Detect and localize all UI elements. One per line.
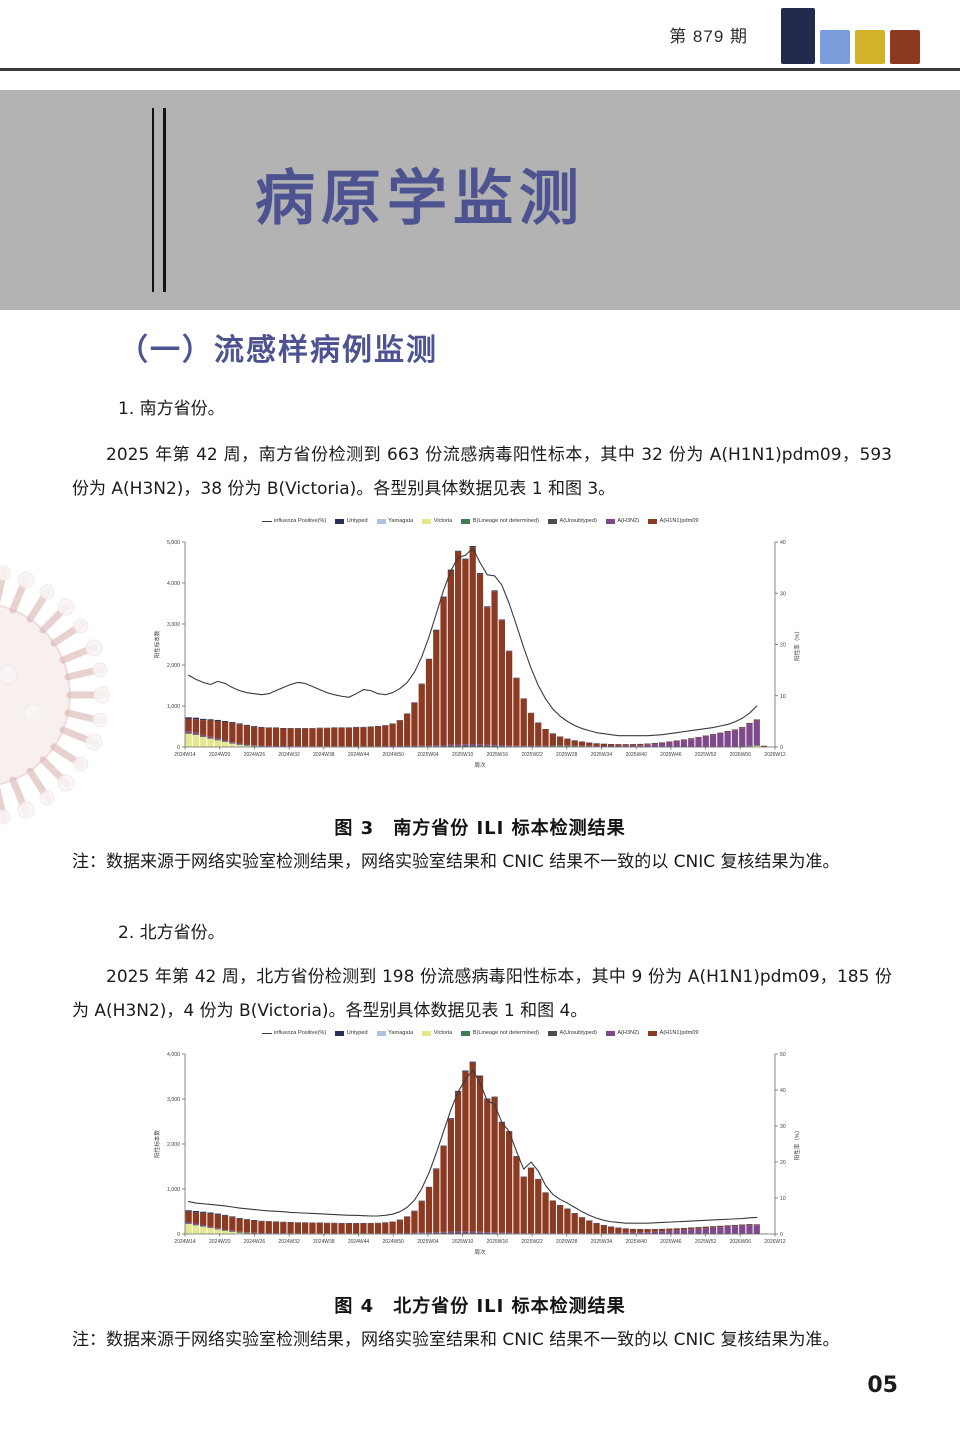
legend-label: Untyped <box>347 518 368 524</box>
legend-color-swatch <box>377 1031 386 1036</box>
south-list-label: 1. 南方省份。 <box>118 392 225 426</box>
legend-item: Victoria <box>422 518 452 524</box>
x-axis-tick-label: 2026W06 <box>730 1239 752 1245</box>
y-axis-tick-label: 3,000 <box>167 1097 180 1103</box>
y2-axis-tick-label: 40 <box>780 1088 786 1094</box>
legend-color-swatch <box>461 1031 470 1036</box>
y-axis-tick-label: 1,000 <box>167 704 180 710</box>
legend-item: A(H1N1)pdm09 <box>648 518 698 524</box>
legend-item: influenza Positive(%) <box>262 518 327 524</box>
legend-label: Victoria <box>434 518 453 524</box>
x-axis-tick-label: 2025W46 <box>660 752 682 758</box>
legend-color-swatch <box>335 1031 344 1036</box>
figure-3-plot-area: 01,0002,0003,0004,0005,0000102030402024W… <box>0 530 960 785</box>
x-axis-tick-label: 2024W20 <box>209 1239 231 1245</box>
figure-3-svg: 01,0002,0003,0004,0005,0000102030402024W… <box>130 530 830 785</box>
x-axis-tick-label: 2025W52 <box>695 1239 717 1245</box>
issue-label: 第 879 期 <box>669 22 748 47</box>
x-axis-tick-label: 2025W16 <box>487 752 509 758</box>
figure-3-caption: 图 3 南方省份 ILI 标本检测结果 <box>0 814 960 840</box>
x-axis-tick-label: 2026W12 <box>764 752 786 758</box>
legend-label: A(Unsubtyped) <box>560 518 597 524</box>
legend-item: A(H3N2) <box>606 1030 639 1036</box>
south-paragraph: 2025 年第 42 周，南方省份检测到 663 份流感病毒阳性标本，其中 32… <box>72 438 892 506</box>
legend-color-swatch <box>648 1031 657 1036</box>
y-axis-tick-label: 0 <box>177 1232 180 1238</box>
legend-color-swatch <box>606 519 615 524</box>
y2-axis-tick-label: 50 <box>780 1052 786 1058</box>
y-axis-tick-label: 1,000 <box>167 1187 180 1193</box>
legend-item: A(Unsubtyped) <box>548 518 597 524</box>
header-divider <box>0 68 960 71</box>
y-axis-tick-label: 3,000 <box>167 622 180 628</box>
y-axis-title: 阳性标本数 <box>153 630 161 658</box>
y2-axis-title: 阳性率（%） <box>793 628 801 661</box>
south-paragraph-text: 2025 年第 42 周，南方省份检测到 663 份流感病毒阳性标本，其中 32… <box>72 445 892 499</box>
y2-axis-tick-label: 10 <box>780 694 786 700</box>
legend-label: A(Unsubtyped) <box>560 1030 597 1036</box>
logo-bar-navy <box>781 8 815 64</box>
logo-bar-gold <box>855 30 885 64</box>
legend-line-marker <box>262 1033 272 1034</box>
banner-accent-line-right <box>163 108 166 292</box>
legend-label: A(H3N2) <box>617 1030 639 1036</box>
banner-accent-line-left <box>152 108 154 292</box>
x-axis-tick-label: 2024W50 <box>383 1239 405 1245</box>
x-axis-tick-label: 2025W04 <box>417 1239 439 1245</box>
legend-color-swatch <box>335 519 344 524</box>
x-axis-tick-label: 2024W38 <box>313 752 335 758</box>
page-number: 05 <box>867 1373 898 1398</box>
x-axis-tick-label: 2025W04 <box>417 752 439 758</box>
x-axis-tick-label: 2024W26 <box>244 1239 266 1245</box>
x-axis-tick-label: 2024W38 <box>313 1239 335 1245</box>
x-axis-tick-label: 2025W22 <box>521 752 543 758</box>
legend-label: Yamagata <box>388 518 413 524</box>
figure-3-legend: influenza Positive(%)UntypedYamagataVict… <box>0 518 960 524</box>
bar-series-A(H1N1)pdm09 <box>186 547 768 747</box>
chapter-banner: 病原学监测 <box>0 90 960 310</box>
x-axis-tick-label: 2026W06 <box>730 752 752 758</box>
legend-item: Victoria <box>422 1030 452 1036</box>
x-axis-tick-label: 2025W10 <box>452 1239 474 1245</box>
figure-4-note: 注：数据来源于网络实验室检测结果，网络实验室结果和 CNIC 结果不一致的以 C… <box>72 1326 896 1354</box>
figure-4-caption: 图 4 北方省份 ILI 标本检测结果 <box>0 1292 960 1318</box>
chapter-title: 病原学监测 <box>255 150 585 237</box>
y-axis-tick-label: 4,000 <box>167 1052 180 1058</box>
legend-item: A(H1N1)pdm09 <box>648 1030 698 1036</box>
legend-label: B(Lineage not determined) <box>473 518 539 524</box>
x-axis-tick-label: 2024W44 <box>348 752 370 758</box>
x-axis-tick-label: 2025W40 <box>625 1239 647 1245</box>
legend-item: A(Unsubtyped) <box>548 1030 597 1036</box>
x-axis-tick-label: 2025W34 <box>591 1239 613 1245</box>
x-axis-tick-label: 2024W14 <box>174 1239 196 1245</box>
x-axis-tick-label: 2025W34 <box>591 752 613 758</box>
legend-color-swatch <box>606 1031 615 1036</box>
y2-axis-tick-label: 30 <box>780 1124 786 1130</box>
legend-label: Victoria <box>434 1030 453 1036</box>
x-axis-tick-label: 2025W22 <box>521 1239 543 1245</box>
x-axis-tick-label: 2025W10 <box>452 752 474 758</box>
y2-axis-tick-label: 30 <box>780 591 786 597</box>
y2-axis-tick-label: 20 <box>780 643 786 649</box>
y-axis-tick-label: 0 <box>177 745 180 751</box>
legend-label: A(H1N1)pdm09 <box>660 518 699 524</box>
x-axis-tick-label: 2025W46 <box>660 1239 682 1245</box>
legend-label: influenza Positive(%) <box>274 1030 326 1036</box>
figure-3-chart: influenza Positive(%)UntypedYamagataVict… <box>0 518 960 803</box>
legend-item: influenza Positive(%) <box>262 1030 327 1036</box>
x-axis-tick-label: 2024W26 <box>244 752 266 758</box>
x-axis-tick-label: 2024W20 <box>209 752 231 758</box>
x-axis-tick-label: 2024W32 <box>278 1239 300 1245</box>
figure-4-svg: 01,0002,0003,0004,000010203040502024W142… <box>130 1042 830 1272</box>
legend-color-swatch <box>648 519 657 524</box>
legend-item: Untyped <box>335 518 367 524</box>
x-axis-tick-label: 2024W50 <box>383 752 405 758</box>
legend-color-swatch <box>548 1031 557 1036</box>
legend-item: Yamagata <box>377 518 414 524</box>
legend-label: Yamagata <box>388 1030 413 1036</box>
x-axis-tick-label: 2025W28 <box>556 1239 578 1245</box>
y2-axis-tick-label: 10 <box>780 1196 786 1202</box>
legend-color-swatch <box>422 1031 431 1036</box>
legend-color-swatch <box>548 519 557 524</box>
x-axis-tick-label: 2025W52 <box>695 752 717 758</box>
logo-bar-blue <box>820 30 850 64</box>
y-axis-title: 阳性标本数 <box>153 1130 161 1158</box>
x-axis-tick-label: 2024W14 <box>174 752 196 758</box>
figure-4-legend: influenza Positive(%)UntypedYamagataVict… <box>0 1030 960 1036</box>
legend-label: influenza Positive(%) <box>274 518 326 524</box>
logo-mark <box>781 8 920 64</box>
x-axis-tick-label: 2024W32 <box>278 752 300 758</box>
x-axis-tick-label: 2025W28 <box>556 752 578 758</box>
legend-color-swatch <box>461 519 470 524</box>
legend-item: A(H3N2) <box>606 518 639 524</box>
page-header: 第 879 期 <box>0 0 960 72</box>
y2-axis-tick-label: 0 <box>780 1232 783 1238</box>
legend-label: Untyped <box>347 1030 368 1036</box>
y-axis-tick-label: 5,000 <box>167 540 180 546</box>
y2-axis-tick-label: 40 <box>780 540 786 546</box>
x-axis-tick-label: 2025W40 <box>625 752 647 758</box>
y2-axis-title: 阳性率（%） <box>793 1128 801 1161</box>
figure-4-plot-area: 01,0002,0003,0004,000010203040502024W142… <box>0 1042 960 1272</box>
x-axis-tick-label: 2026W12 <box>764 1239 786 1245</box>
y2-axis-tick-label: 20 <box>780 1160 786 1166</box>
legend-item: Untyped <box>335 1030 367 1036</box>
legend-label: A(H1N1)pdm09 <box>660 1030 699 1036</box>
north-paragraph-text: 2025 年第 42 周，北方省份检测到 198 份流感病毒阳性标本，其中 9 … <box>72 967 892 1021</box>
y2-axis-tick-label: 0 <box>780 745 783 751</box>
legend-item: B(Lineage not determined) <box>461 518 539 524</box>
y-axis-tick-label: 4,000 <box>167 581 180 587</box>
x-axis-title: 周次 <box>474 1248 486 1256</box>
x-axis-title: 周次 <box>474 761 486 769</box>
legend-color-swatch <box>377 519 386 524</box>
x-axis-tick-label: 2024W44 <box>348 1239 370 1245</box>
x-axis-tick-label: 2025W16 <box>487 1239 509 1245</box>
figure-3-note: 注：数据来源于网络实验室检测结果，网络实验室结果和 CNIC 结果不一致的以 C… <box>72 848 896 876</box>
north-paragraph: 2025 年第 42 周，北方省份检测到 198 份流感病毒阳性标本，其中 9 … <box>72 960 892 1028</box>
y-axis-tick-label: 2,000 <box>167 1142 180 1148</box>
north-list-label: 2. 北方省份。 <box>118 916 225 950</box>
legend-color-swatch <box>422 519 431 524</box>
legend-label: A(H3N2) <box>617 518 639 524</box>
figure-4-chart: influenza Positive(%)UntypedYamagataVict… <box>0 1030 960 1285</box>
legend-line-marker <box>262 521 272 522</box>
logo-bar-rust <box>890 30 920 64</box>
legend-item: B(Lineage not determined) <box>461 1030 539 1036</box>
legend-item: Yamagata <box>377 1030 414 1036</box>
legend-label: B(Lineage not determined) <box>473 1030 539 1036</box>
bar-series-A(H1N1)pdm09 <box>186 1063 768 1234</box>
y-axis-tick-label: 2,000 <box>167 663 180 669</box>
section-heading: （一）流感样病例监测 <box>118 325 438 369</box>
